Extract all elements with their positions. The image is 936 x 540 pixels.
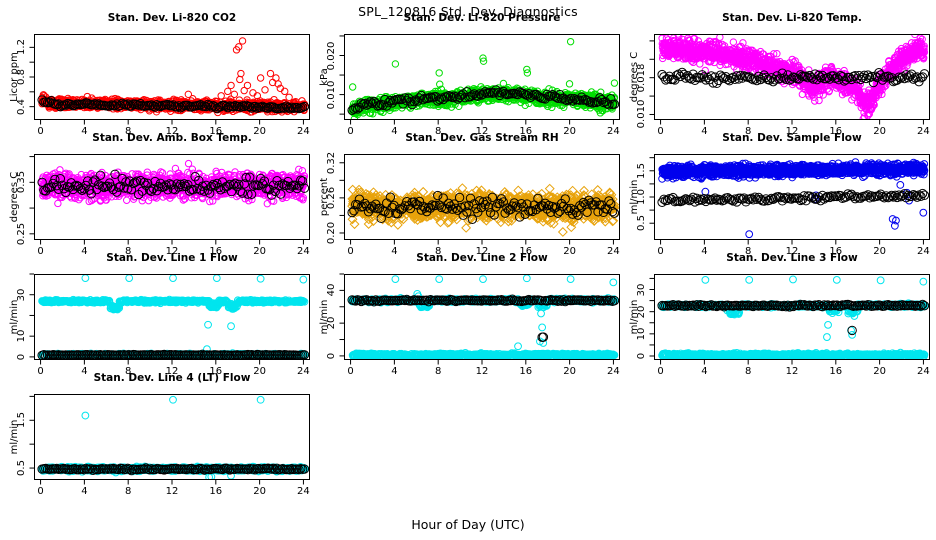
x-tick-label: 20	[246, 486, 274, 497]
scatter-points	[345, 35, 620, 120]
y-axis-label: percent	[319, 178, 330, 216]
panel-title: Stan. Dev. Li-820 Pressure	[344, 12, 620, 24]
plot-area	[344, 274, 620, 360]
panel-stan-dev-li-820-pressure: Stan. Dev. Li-820 Pressure0.0100.0200481…	[310, 12, 620, 144]
panel-title: Stan. Dev. Sample Flow	[654, 132, 930, 144]
y-axis-label: ml/min	[319, 300, 330, 335]
panel-stan-dev-gas-stream-rh: Stan. Dev. Gas Stream RH0.200.260.320481…	[310, 132, 620, 264]
x-tick-label: 16	[512, 366, 540, 377]
scatter-points	[345, 275, 620, 360]
plot-area	[34, 394, 310, 480]
x-tick-label: 12	[468, 366, 496, 377]
x-tick-label: 0	[647, 366, 675, 377]
y-tick-label: 0.25	[16, 223, 27, 245]
y-tick-label: 0.20	[326, 222, 337, 244]
panel-stan-dev-li-820-temp: Stan. Dev. Li-820 Temp.0.0100.0180481216…	[620, 12, 930, 144]
x-tick-label: 8	[734, 366, 762, 377]
x-tick-label: 16	[822, 366, 850, 377]
plot-area	[344, 154, 620, 240]
scatter-points	[35, 275, 310, 360]
y-axis-label: ml/min	[9, 420, 20, 455]
y-tick-label: 1.5	[636, 163, 647, 179]
y-axis-label: kPa	[319, 68, 330, 86]
panel-stan-dev-sample-flow: Stan. Dev. Sample Flow0.51.01.5048121620…	[620, 132, 930, 264]
x-tick-label: 4	[70, 486, 98, 497]
x-tick-label: 4	[380, 366, 408, 377]
panel-stan-dev-amb-box-temp: Stan. Dev. Amb. Box Temp.0.250.350481216…	[0, 132, 310, 264]
panel-title: Stan. Dev. Amb. Box Temp.	[34, 132, 310, 144]
scatter-points	[655, 155, 930, 240]
scatter-points	[35, 35, 310, 120]
y-axis-label: ml/min	[9, 300, 20, 335]
panel-stan-dev-line-4-lt-flow: Stan. Dev. Line 4 (LT) Flow0.51.50481216…	[0, 372, 310, 504]
scatter-points	[35, 395, 310, 480]
scatter-points	[35, 155, 310, 240]
y-tick-label: 0	[16, 354, 27, 360]
panel-title: Stan. Dev. Line 1 Flow	[34, 252, 310, 264]
x-tick-label: 12	[778, 366, 806, 377]
y-tick-label: 0	[636, 353, 647, 359]
y-axis-label: Licor ppm	[9, 52, 20, 102]
panel-stan-dev-line-3-flow: Stan. Dev. Line 3 Flow010203004812162024…	[620, 252, 930, 384]
x-tick-label: 20	[556, 366, 584, 377]
x-tick-label: 8	[114, 486, 142, 497]
plot-area	[34, 274, 310, 360]
y-tick-label: 40	[326, 284, 337, 297]
x-tick-label: 20	[866, 366, 894, 377]
x-tick-label: 24	[289, 486, 317, 497]
plot-area	[34, 34, 310, 120]
y-tick-label: 0	[326, 353, 337, 359]
panel-title: Stan. Dev. Line 3 Flow	[654, 252, 930, 264]
figure-xlabel: Hour of Day (UTC)	[0, 517, 936, 532]
panel-title: Stan. Dev. Line 2 Flow	[344, 252, 620, 264]
x-tick-label: 12	[158, 486, 186, 497]
plot-area	[654, 274, 930, 360]
scatter-points	[655, 275, 930, 360]
x-tick-label: 4	[690, 366, 718, 377]
panel-stan-dev-line-2-flow: Stan. Dev. Line 2 Flow0204004812162024ml…	[310, 252, 620, 384]
plot-area	[654, 34, 930, 120]
x-tick-label: 16	[202, 486, 230, 497]
y-axis-label: ml/min	[629, 180, 640, 215]
panel-stan-dev-li-820-co2: Stan. Dev. Li-820 CO20.40.81.20481216202…	[0, 12, 310, 144]
plot-area	[34, 154, 310, 240]
y-axis-label: degrees C	[9, 172, 20, 222]
scatter-points	[345, 155, 620, 240]
y-tick-label: 0.020	[326, 41, 337, 70]
y-axis-label: degrees C	[629, 52, 640, 102]
panel-title: Stan. Dev. Line 4 (LT) Flow	[34, 372, 310, 384]
panel-stan-dev-line-1-flow: Stan. Dev. Line 1 Flow0103004812162024ml…	[0, 252, 310, 384]
panel-title: Stan. Dev. Li-820 Temp.	[654, 12, 930, 24]
plot-area	[654, 154, 930, 240]
diagnostics-figure: SPL_120816 Std. Dev. Diagnostics Hour of…	[0, 0, 936, 540]
y-tick-label: 0.5	[636, 215, 647, 231]
y-tick-label: 30	[636, 283, 647, 296]
y-tick-label: 0.32	[326, 152, 337, 174]
plot-area	[344, 34, 620, 120]
panel-title: Stan. Dev. Li-820 CO2	[34, 12, 310, 24]
y-tick-label: 0.5	[16, 460, 27, 476]
x-tick-label: 0	[337, 366, 365, 377]
x-tick-label: 8	[424, 366, 452, 377]
x-tick-label: 0	[27, 486, 55, 497]
panel-title: Stan. Dev. Gas Stream RH	[344, 132, 620, 144]
x-tick-label: 24	[909, 366, 936, 377]
scatter-points	[655, 35, 930, 120]
y-tick-label: 0.010	[636, 100, 647, 129]
y-axis-label: ml/min	[629, 300, 640, 335]
